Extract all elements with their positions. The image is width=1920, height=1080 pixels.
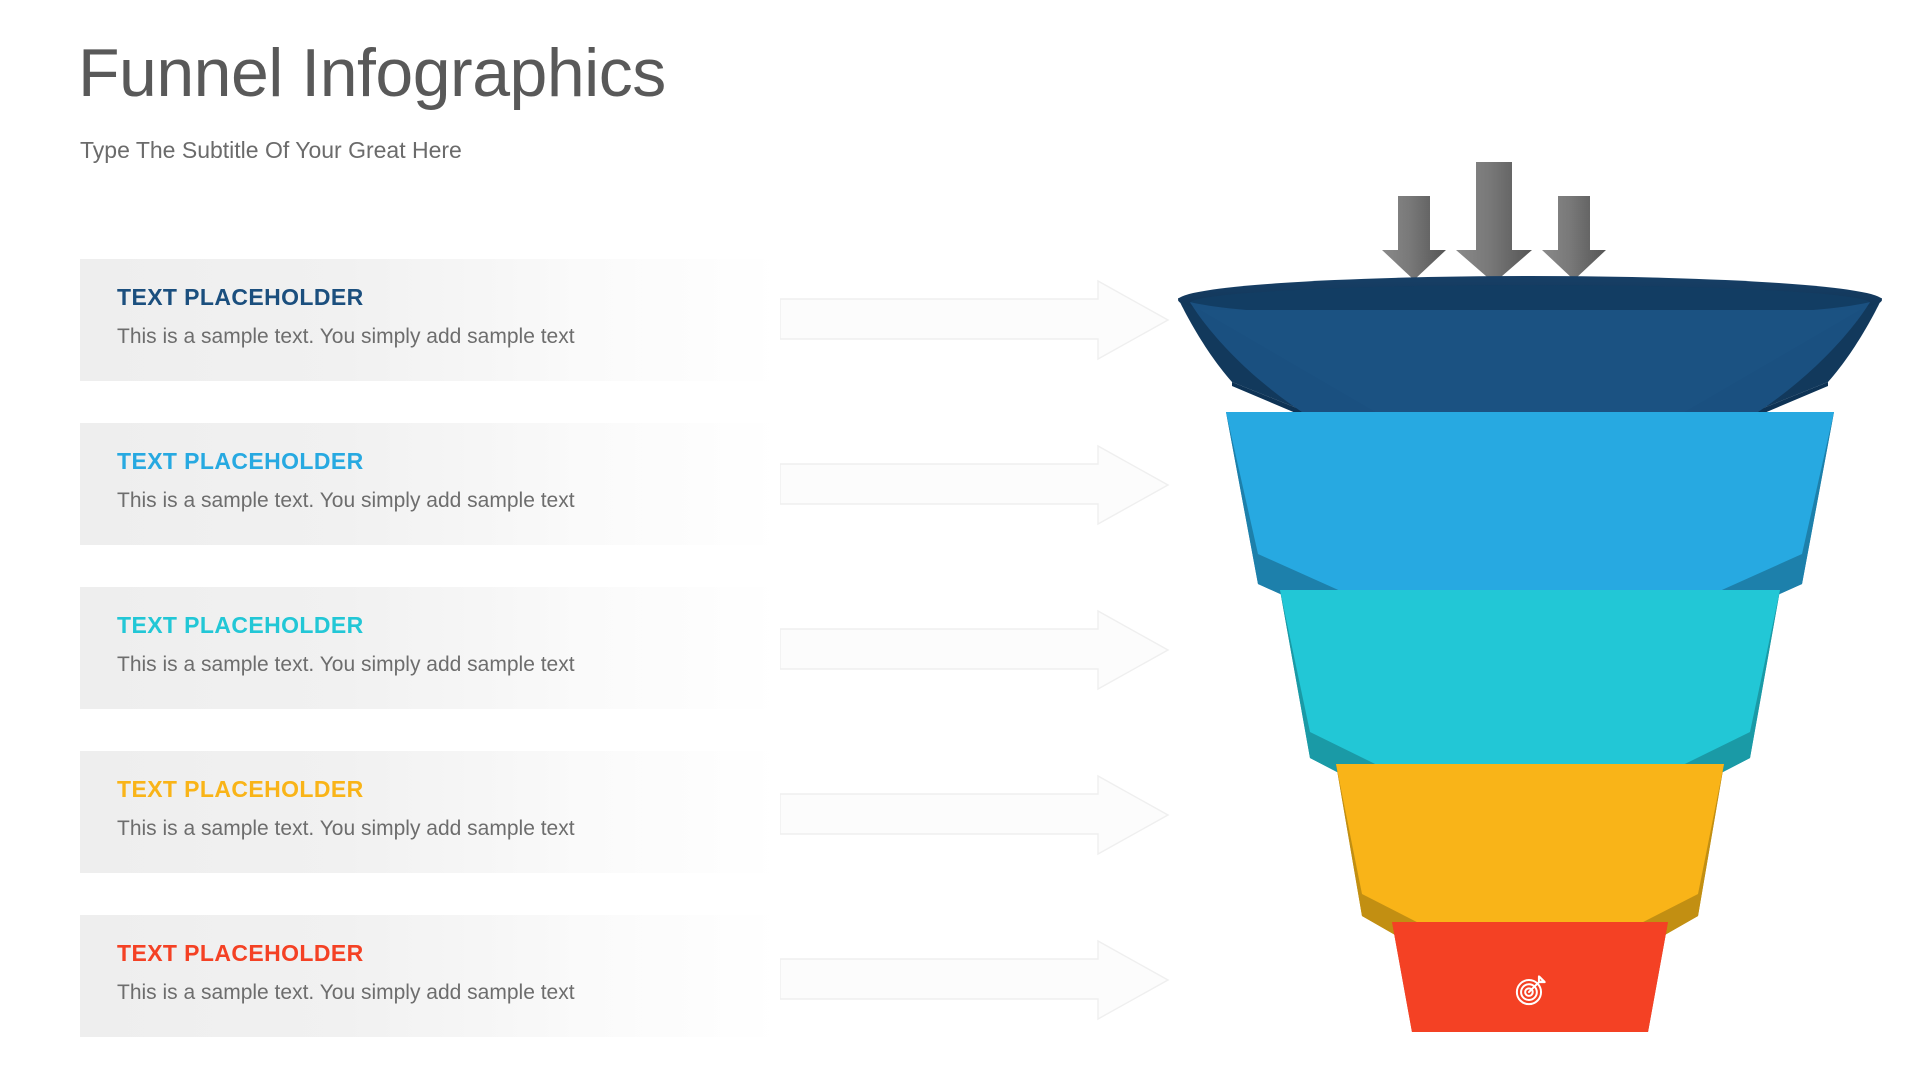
text-block-heading: TEXT PLACEHOLDER — [117, 449, 780, 474]
funnel-layer-5 — [1392, 922, 1668, 1032]
text-block-heading: TEXT PLACEHOLDER — [117, 285, 780, 310]
text-block-body: This is a sample text. You simply add sa… — [117, 652, 780, 677]
funnel-diagram — [1140, 150, 1920, 1050]
text-block-heading: TEXT PLACEHOLDER — [117, 777, 780, 802]
inflow-arrow-right — [1542, 196, 1606, 280]
text-block-body: This is a sample text. You simply add sa… — [117, 488, 780, 513]
connector-arrow-2 — [780, 442, 1170, 528]
page-subtitle: Type The Subtitle Of Your Great Here — [80, 137, 462, 164]
text-block-body: This is a sample text. You simply add sa… — [117, 980, 780, 1005]
page-title: Funnel Infographics — [78, 38, 666, 109]
text-block-body: This is a sample text. You simply add sa… — [117, 816, 780, 841]
inflow-arrows — [1382, 162, 1606, 283]
text-block[interactable]: TEXT PLACEHOLDER This is a sample text. … — [80, 751, 780, 873]
connector-arrow-1 — [780, 277, 1170, 363]
text-block-heading: TEXT PLACEHOLDER — [117, 941, 780, 966]
connector-arrow-4 — [780, 772, 1170, 858]
layer-face — [1392, 922, 1668, 1032]
text-block[interactable]: TEXT PLACEHOLDER This is a sample text. … — [80, 587, 780, 709]
text-block[interactable]: TEXT PLACEHOLDER This is a sample text. … — [80, 423, 780, 545]
text-block[interactable]: TEXT PLACEHOLDER This is a sample text. … — [80, 915, 780, 1037]
inflow-arrow-center — [1456, 162, 1532, 283]
text-block[interactable]: TEXT PLACEHOLDER This is a sample text. … — [80, 259, 780, 381]
text-block-heading: TEXT PLACEHOLDER — [117, 613, 780, 638]
slide-canvas: Funnel Infographics Type The Subtitle Of… — [0, 0, 1920, 1080]
connector-arrow-3 — [780, 607, 1170, 693]
connector-arrow-5 — [780, 937, 1170, 1023]
text-block-list: TEXT PLACEHOLDER This is a sample text. … — [80, 259, 780, 1079]
inflow-arrow-left — [1382, 196, 1446, 280]
text-block-body: This is a sample text. You simply add sa… — [117, 324, 780, 349]
